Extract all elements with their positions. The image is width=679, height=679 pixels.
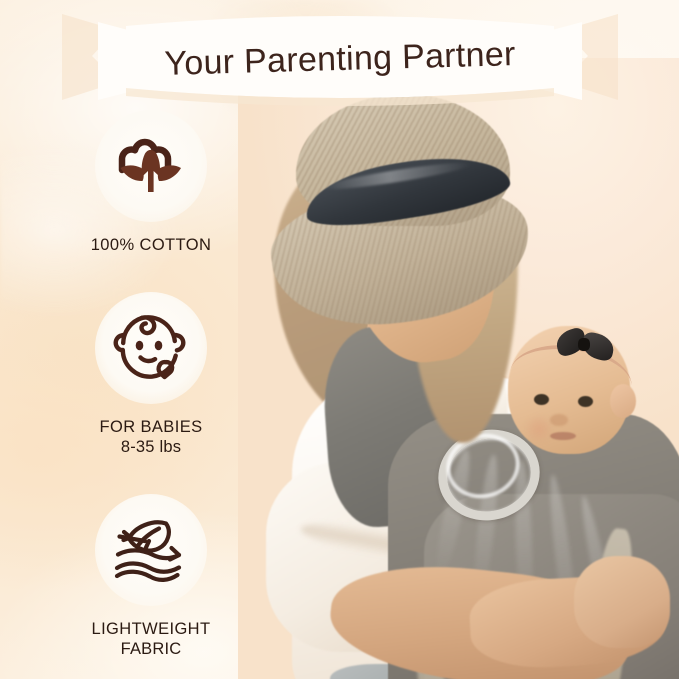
feature-lightweight-label-line1: LIGHTWEIGHT bbox=[92, 620, 211, 638]
feature-cotton-label-line1: 100% COTTON bbox=[91, 236, 212, 254]
cotton-boll-icon bbox=[111, 126, 191, 206]
feature-babies: FOR BABIES 8-35 lbs bbox=[58, 292, 244, 457]
headline-banner: Your Parenting Partner bbox=[62, 8, 618, 106]
feature-cotton: 100% COTTON bbox=[58, 110, 244, 255]
baby-cheek bbox=[522, 416, 556, 442]
baby-eye bbox=[578, 396, 593, 407]
feature-lightweight-label-line2: FABRIC bbox=[92, 639, 211, 659]
page-title: Your Parenting Partner bbox=[61, 2, 620, 115]
feature-lightweight-label: LIGHTWEIGHT FABRIC bbox=[92, 619, 211, 659]
feature-babies-label: FOR BABIES 8-35 lbs bbox=[99, 417, 202, 457]
feature-lightweight-badge bbox=[95, 494, 207, 606]
baby-bow-knot bbox=[578, 338, 590, 351]
feature-cotton-label: 100% COTTON bbox=[91, 235, 212, 255]
baby-eye bbox=[534, 394, 549, 405]
feather-fabric-icon bbox=[109, 514, 193, 586]
mother-hand bbox=[574, 556, 670, 648]
lifestyle-photo bbox=[238, 58, 679, 679]
product-feature-graphic: Your Parenting Partner 100% COTTON bbox=[0, 0, 679, 679]
feature-babies-label-line2: 8-35 lbs bbox=[99, 437, 202, 457]
feature-babies-badge bbox=[95, 292, 207, 404]
feature-lightweight: LIGHTWEIGHT FABRIC bbox=[58, 494, 244, 659]
feature-cotton-badge bbox=[95, 110, 207, 222]
feature-babies-label-line1: FOR BABIES bbox=[99, 418, 202, 436]
baby-face-heart-icon bbox=[110, 309, 192, 387]
